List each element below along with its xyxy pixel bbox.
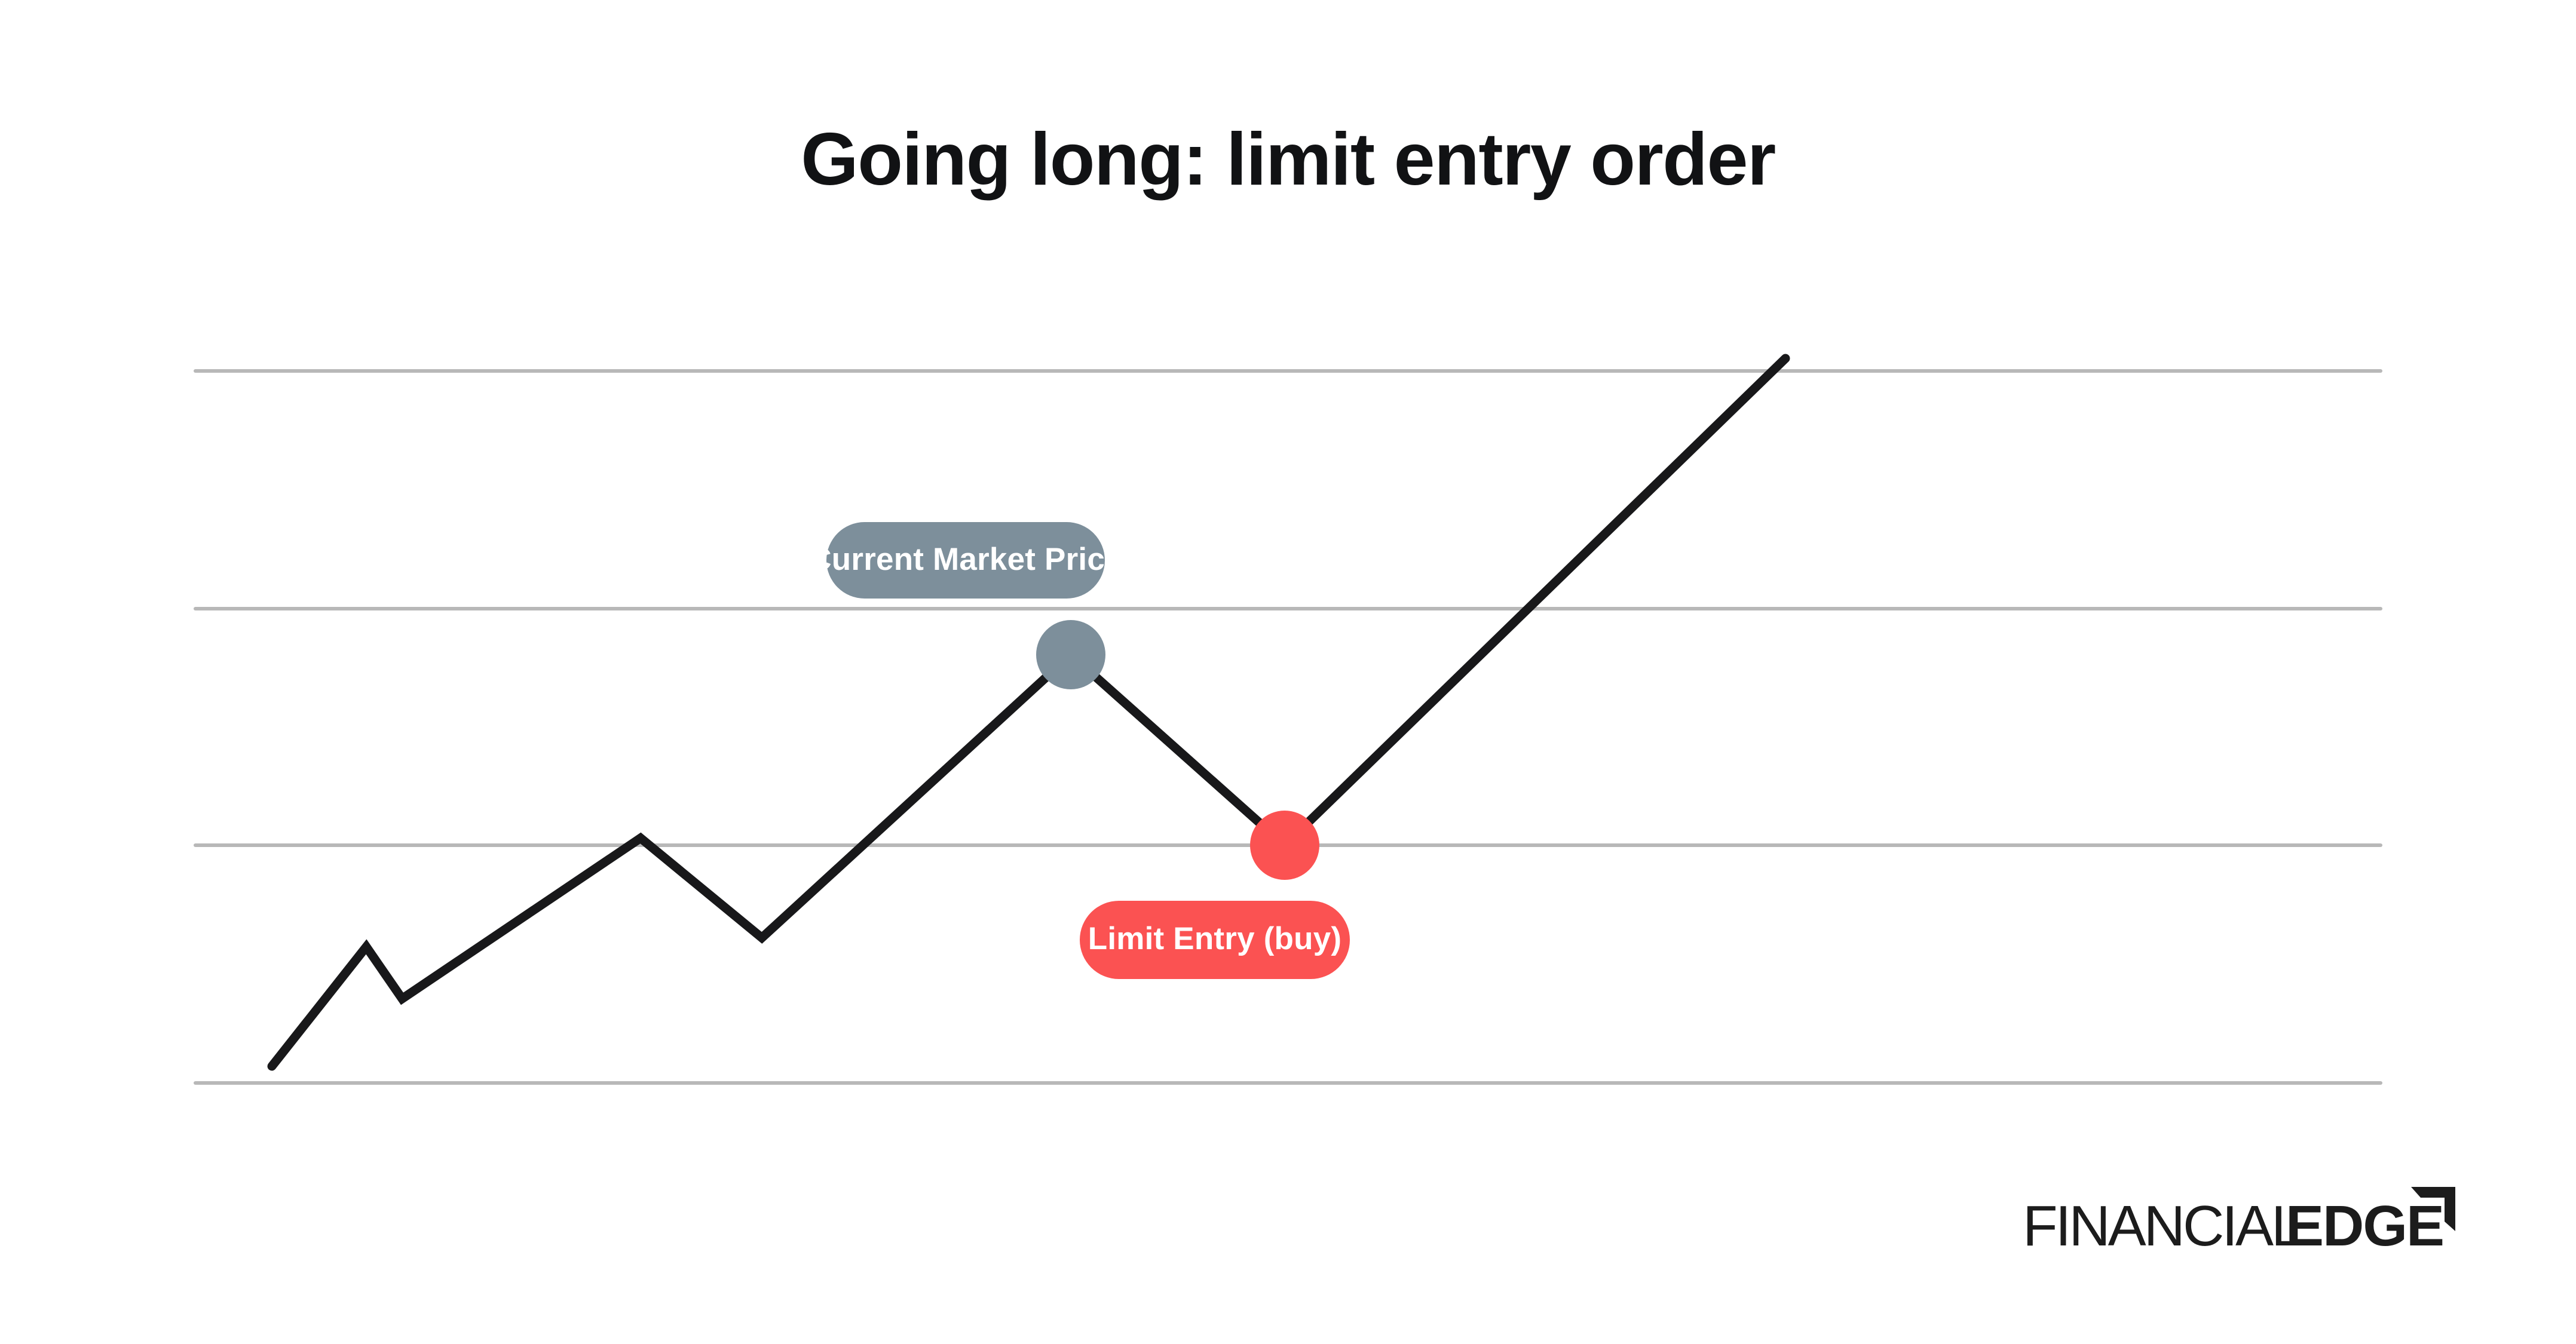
current-market-price-marker[interactable]	[1036, 620, 1105, 689]
brand-name-thin: FINANCIAL	[2023, 1194, 2302, 1258]
brand-name-bold: EDGE	[2286, 1194, 2443, 1258]
diagram-canvas: Going long: limit entry order Current Ma…	[0, 0, 2576, 1344]
current-market-price-label[interactable]: Current Market Price	[826, 522, 1105, 599]
price-chart	[0, 0, 2576, 1344]
price-line	[272, 358, 1785, 1066]
limit-entry-marker[interactable]	[1250, 811, 1319, 880]
limit-entry-label[interactable]: Limit Entry (buy)	[1080, 901, 1350, 979]
brand-logo: FINANCIAL EDGE	[2023, 1186, 2465, 1263]
